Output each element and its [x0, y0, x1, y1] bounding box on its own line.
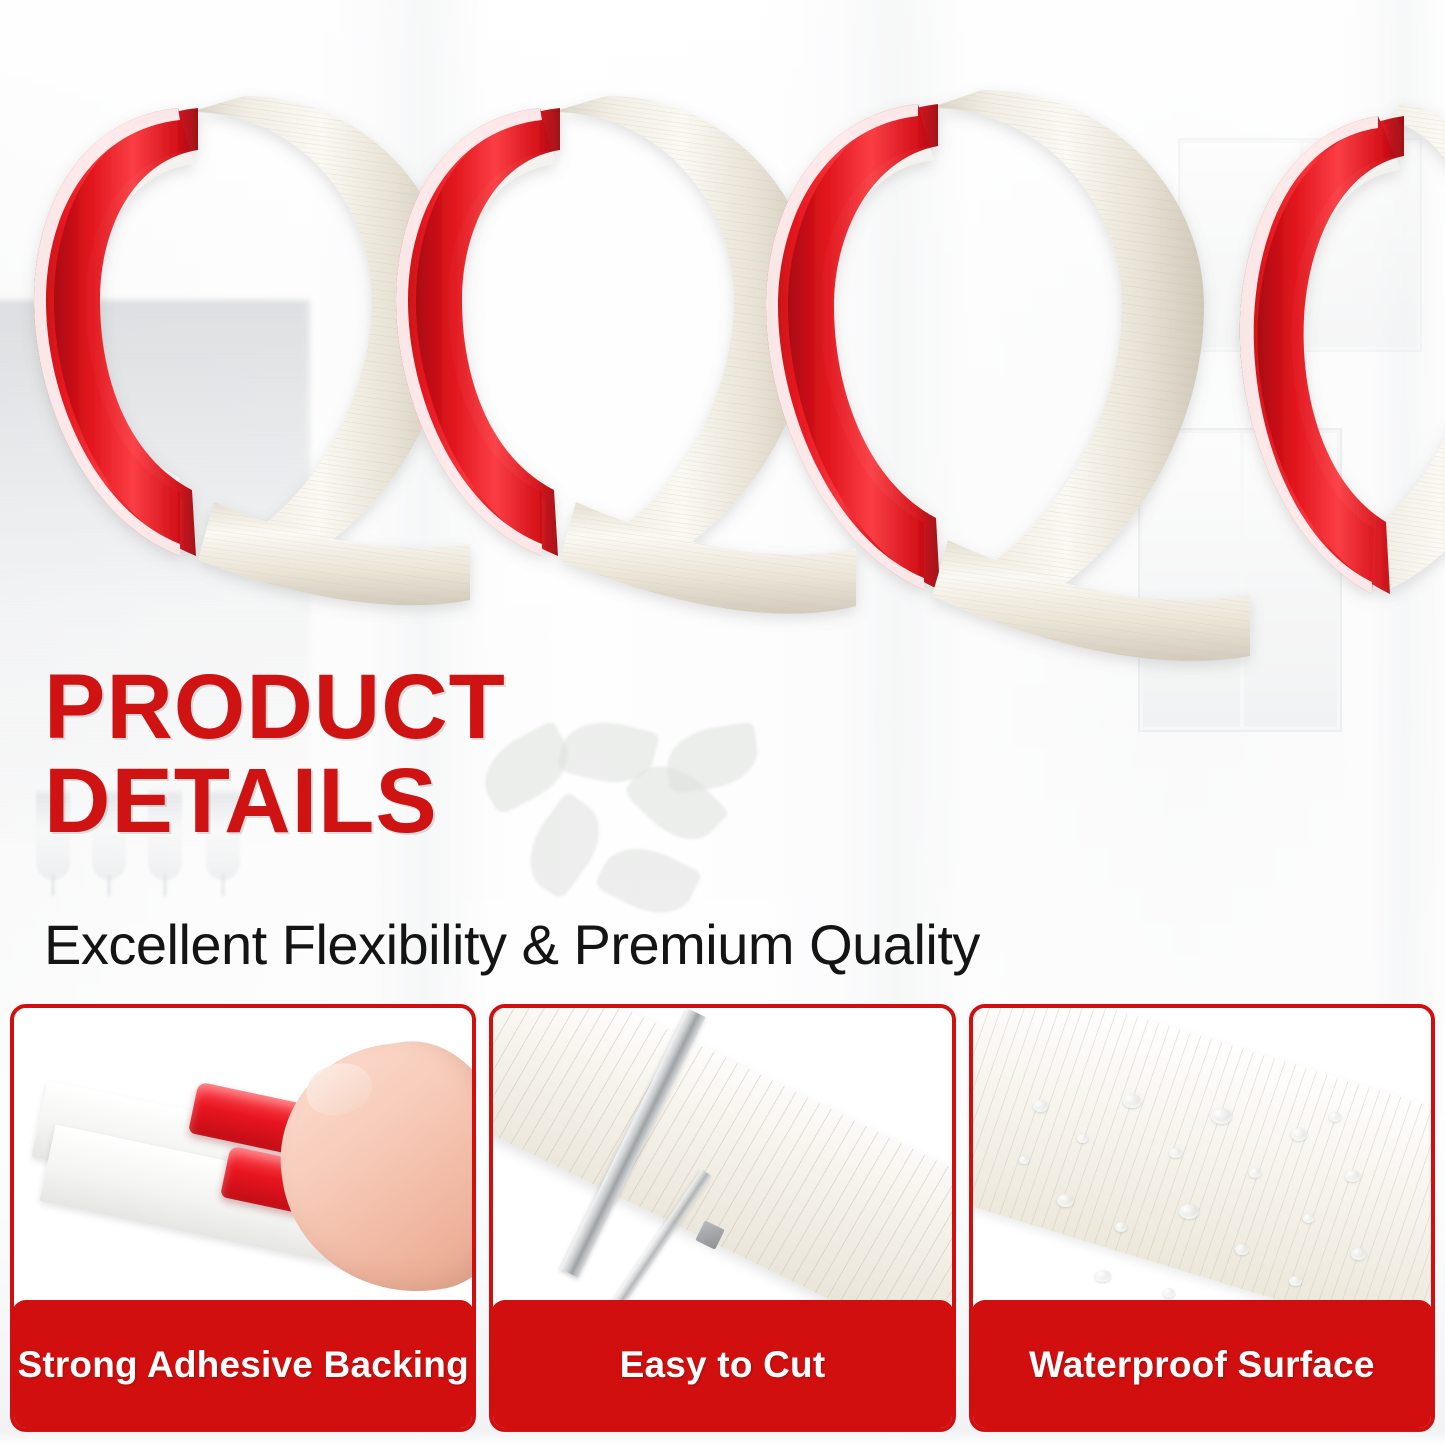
hero-product-coils [0, 0, 1445, 720]
feature-caption-bar: Waterproof Surface [971, 1300, 1433, 1430]
scissors-cut-icon [493, 1008, 951, 1302]
water-droplet-icon [973, 1008, 1431, 1302]
headline-line-2: DETAILS [44, 756, 804, 846]
feature-caption-bar: Easy to Cut [491, 1300, 953, 1430]
headline-block: PRODUCT DETAILS [44, 662, 804, 846]
feature-panel-cut[interactable]: Easy to Cut [489, 1004, 955, 1432]
product-detail-infographic: PRODUCT DETAILS Excellent Flexibility & … [0, 0, 1445, 1445]
adhesive-peel-icon [14, 1008, 472, 1302]
feature-caption-label: Easy to Cut [620, 1344, 826, 1386]
feature-panel-row: Strong Adhesive Backing Easy to Cut [10, 1004, 1435, 1432]
subtitle-text: Excellent Flexibility & Premium Quality [44, 912, 980, 977]
edge-banding-coil-illustration [0, 0, 1445, 720]
feature-caption-label: Strong Adhesive Backing [17, 1344, 468, 1386]
feature-caption-bar: Strong Adhesive Backing [12, 1300, 474, 1430]
feature-panel-waterproof[interactable]: Waterproof Surface [969, 1004, 1435, 1432]
bottom-fade [0, 1431, 1445, 1445]
feature-caption-label: Waterproof Surface [1029, 1344, 1375, 1386]
feature-panel-adhesive[interactable]: Strong Adhesive Backing [10, 1004, 476, 1432]
headline-line-1: PRODUCT [44, 662, 804, 752]
